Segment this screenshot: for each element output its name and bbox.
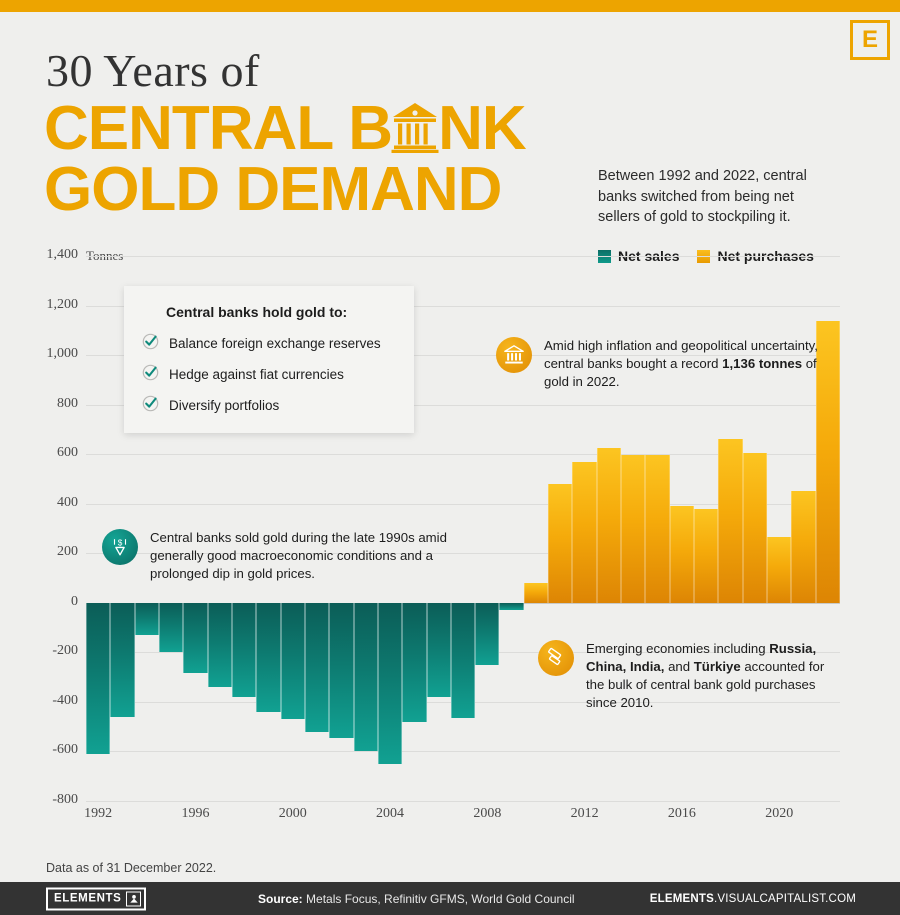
y-axis-tick-label: 0 <box>18 594 78 610</box>
anno-emerg-highlight-2: Türkiye <box>694 659 741 674</box>
page-footer: ELEMENTS Source: Metals Focus, Refinitiv… <box>0 882 900 915</box>
svg-text:$: $ <box>118 539 123 548</box>
chart-bar <box>499 603 523 610</box>
chart-bar <box>524 583 548 603</box>
chart-bar <box>402 603 426 722</box>
y-axis-tick-label: -400 <box>18 693 78 709</box>
annotation-selling-text: Central banks sold gold during the late … <box>150 529 492 583</box>
chart-bar <box>110 603 134 717</box>
y-axis-tick-label: 600 <box>18 445 78 461</box>
y-axis-tick-label: 1,200 <box>18 297 78 313</box>
y-axis-tick-label: -200 <box>18 643 78 659</box>
infographic-page: E 30 Years of CENTRAL B NK GOLD DEMAND B… <box>0 0 900 915</box>
data-as-of-note: Data as of 31 December 2022. <box>46 861 216 875</box>
chart-bar <box>256 603 280 712</box>
annotation-emerging-text: Emerging economies including Russia, Chi… <box>586 640 838 712</box>
footer-url-bold: ELEMENTS <box>650 893 714 905</box>
elements-footer-brand-text: ELEMENTS <box>54 893 121 905</box>
annotation-record-purchases-text: Amid high inflation and geopolitical unc… <box>544 337 826 391</box>
central-banks-hold-gold-card: Central banks hold gold to: Balance fore… <box>124 286 414 433</box>
chart-bar <box>767 537 791 603</box>
anno-bank-highlight: 1,136 tonnes <box>722 356 802 371</box>
card-list-item: Hedge against fiat currencies <box>142 364 396 384</box>
x-axis-tick-label: 2016 <box>652 806 712 822</box>
chart-bar <box>475 603 499 665</box>
elements-footer-mark-icon <box>126 891 141 906</box>
y-axis-tick-label: 1,400 <box>18 247 78 263</box>
chart-bar <box>329 603 353 738</box>
chart-bar <box>572 462 596 603</box>
gold-demand-bar-chart: Tonnes 1,4001,2001,0008006004002000-200-… <box>0 0 900 915</box>
x-axis-tick-label: 2012 <box>555 806 615 822</box>
chart-bar <box>451 603 475 718</box>
footer-url-rest: .VISUALCAPITALIST.COM <box>714 893 856 905</box>
footer-source: Source: Metals Focus, Refinitiv GFMS, Wo… <box>258 892 575 906</box>
gold-bars-icon <box>538 640 574 676</box>
card-list-item-label: Diversify portfolios <box>169 398 279 413</box>
chart-bar <box>281 603 305 719</box>
footer-source-value: Metals Focus, Refinitiv GFMS, World Gold… <box>303 892 575 906</box>
y-axis-tick-label: 800 <box>18 396 78 412</box>
annotation-record-purchases: Amid high inflation and geopolitical unc… <box>496 337 826 391</box>
chart-bar <box>597 448 621 603</box>
check-circle-icon <box>142 395 159 415</box>
chart-bar <box>694 509 718 603</box>
chart-bar <box>354 603 378 752</box>
chart-bar <box>427 603 451 697</box>
y-axis-tick-label: 200 <box>18 544 78 560</box>
chart-bar <box>183 603 207 674</box>
y-axis-tick-label: 1,000 <box>18 346 78 362</box>
anno-emerg-part-3: and <box>664 659 693 674</box>
chart-bar <box>378 603 402 764</box>
chart-bar <box>743 453 767 603</box>
check-circle-icon <box>142 364 159 384</box>
footer-url: ELEMENTS.VISUALCAPITALIST.COM <box>650 893 856 905</box>
x-axis-tick-label: 1996 <box>165 806 225 822</box>
bank-icon <box>496 337 532 373</box>
x-axis-tick-label: 2004 <box>360 806 420 822</box>
chart-bar <box>135 603 159 635</box>
chart-bar <box>232 603 256 697</box>
money-down-arrow-icon: $ <box>102 529 138 565</box>
card-list-item-label: Hedge against fiat currencies <box>169 367 344 382</box>
chart-bar <box>718 439 742 603</box>
card-title: Central banks hold gold to: <box>166 304 396 320</box>
chart-bars <box>86 0 840 915</box>
x-axis-tick-label: 2020 <box>749 806 809 822</box>
chart-bar <box>548 484 572 603</box>
chart-bar <box>208 603 232 687</box>
check-circle-icon <box>142 333 159 353</box>
chart-bar <box>305 603 329 732</box>
x-axis-tick-label: 2000 <box>263 806 323 822</box>
chart-bar <box>645 455 669 602</box>
elements-footer-brand: ELEMENTS <box>46 887 146 910</box>
chart-bar <box>670 506 694 603</box>
card-list-item: Balance foreign exchange reserves <box>142 333 396 353</box>
chart-bar <box>791 491 815 602</box>
x-axis-tick-label: 1992 <box>68 806 128 822</box>
anno-emerg-part-1: Emerging economies including <box>586 641 769 656</box>
card-list-item: Diversify portfolios <box>142 395 396 415</box>
y-axis-tick-label: 400 <box>18 495 78 511</box>
annotation-selling-1990s: $ Central banks sold gold during the lat… <box>102 529 492 583</box>
y-axis-tick-label: -600 <box>18 742 78 758</box>
chart-bar <box>621 455 645 602</box>
x-axis-tick-label: 2008 <box>457 806 517 822</box>
chart-bar <box>86 603 110 754</box>
annotation-emerging-economies: Emerging economies including Russia, Chi… <box>538 640 838 712</box>
card-list-item-label: Balance foreign exchange reserves <box>169 336 381 351</box>
chart-bar <box>159 603 183 653</box>
footer-source-label: Source: <box>258 892 303 906</box>
